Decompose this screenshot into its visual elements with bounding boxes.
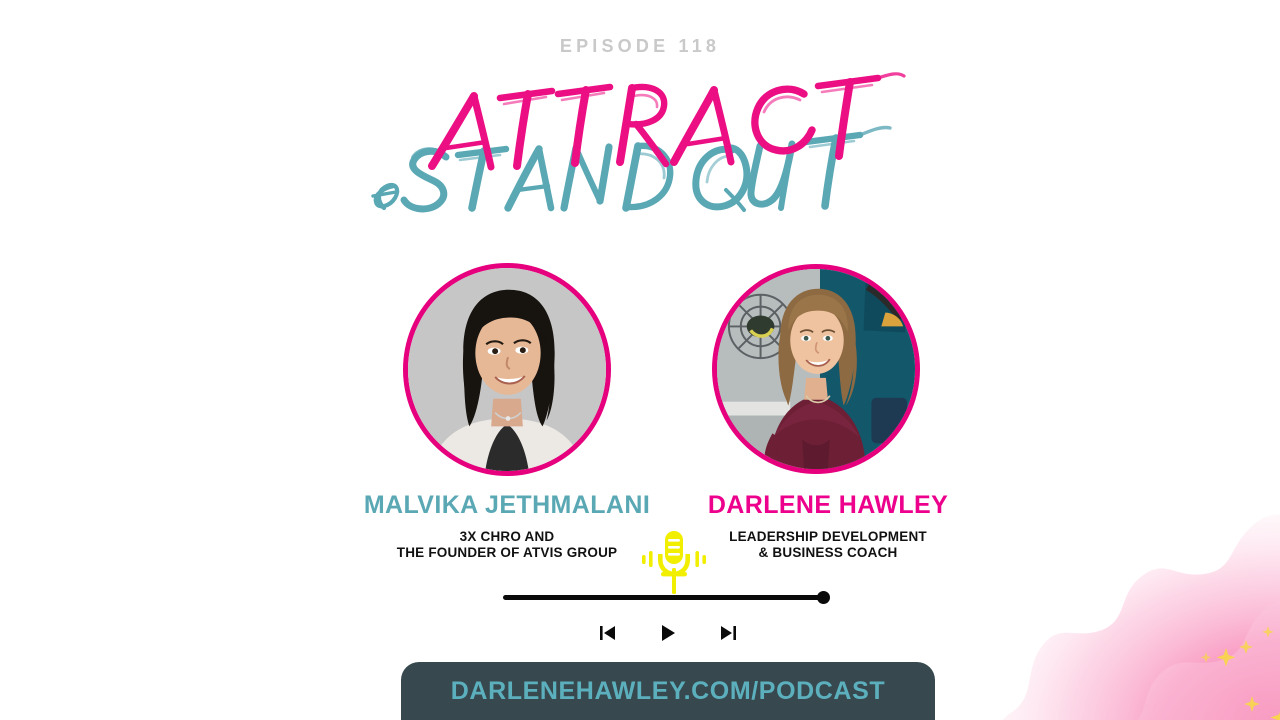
next-track-icon[interactable] bbox=[717, 622, 739, 644]
sparkle-cluster bbox=[1201, 626, 1280, 720]
guest-name-right: DARLENE HAWLEY bbox=[665, 490, 991, 520]
progress-knob[interactable] bbox=[817, 591, 830, 604]
guest-info-left: MALVIKA JETHMALANI 3X CHRO AND THE FOUND… bbox=[342, 490, 672, 560]
progress-track[interactable] bbox=[503, 595, 821, 600]
play-icon[interactable] bbox=[657, 622, 679, 644]
playback-progress-bar[interactable] bbox=[503, 590, 833, 606]
guest-info-right: DARLENE HAWLEY LEADERSHIP DEVELOPMENT & … bbox=[665, 490, 991, 560]
playback-controls bbox=[560, 620, 775, 646]
podcast-url-text: DARLENEHAWLEY.COM/PODCAST bbox=[451, 677, 885, 706]
guest-name-left: MALVIKA JETHMALANI bbox=[342, 490, 672, 520]
avatar-malvika-jethmalani bbox=[403, 263, 611, 476]
guest-portraits bbox=[0, 263, 1280, 483]
podcast-url-card[interactable]: DARLENEHAWLEY.COM/PODCAST bbox=[401, 662, 935, 720]
guest-role-left: 3X CHRO AND THE FOUNDER OF ATVIS GROUP bbox=[342, 529, 672, 560]
microphone-icon bbox=[641, 528, 707, 594]
guest-role-right: LEADERSHIP DEVELOPMENT & BUSINESS COACH bbox=[665, 529, 991, 560]
episode-title-artwork: ATTRACT bbox=[340, 50, 980, 225]
previous-track-icon[interactable] bbox=[597, 622, 619, 644]
watercolor-corner-decoration bbox=[990, 500, 1280, 720]
avatar-darlene-hawley bbox=[712, 264, 920, 474]
episode-graphic-canvas: EPISODE 118 ATTRACT bbox=[0, 0, 1280, 720]
